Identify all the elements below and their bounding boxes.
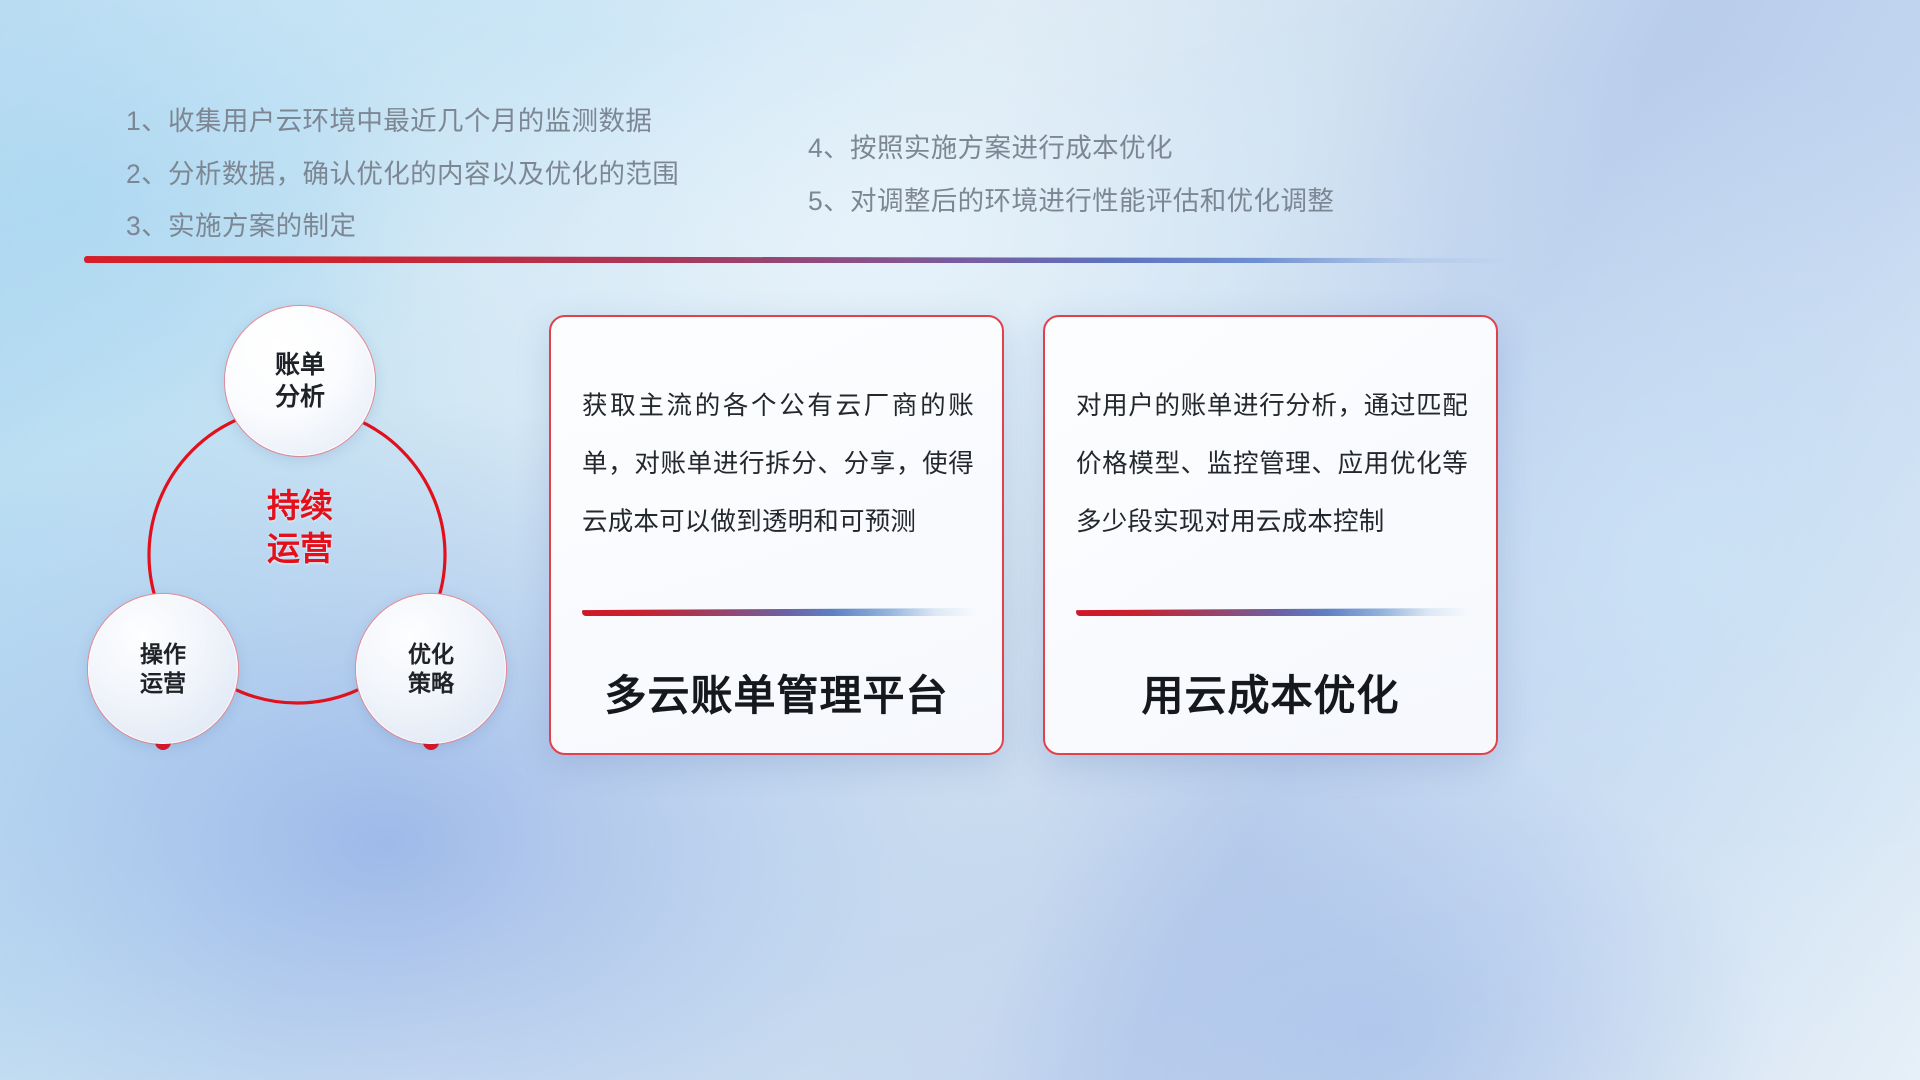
step-number-3: 3、 (126, 211, 168, 241)
step-text-5: 对调整后的环境进行性能评估和优化调整 (850, 186, 1334, 216)
venn-bubble-bill-line1: 账单 (275, 349, 325, 381)
steps-list: 1、收集用户云环境中最近几个月的监测数据 2、分析数据，确认优化的内容以及优化的… (0, 0, 1920, 250)
info-card-1-body: 获取主流的各个公有云厂商的账单，对账单进行拆分、分享，使得云成本可以做到透明和可… (582, 377, 974, 551)
step-text-1: 收集用户云环境中最近几个月的监测数据 (168, 106, 652, 136)
step-text-3: 实施方案的制定 (168, 211, 356, 241)
info-card-1-divider (582, 608, 975, 616)
step-text-2: 分析数据，确认优化的内容以及优化的范围 (168, 159, 679, 189)
info-card-cost-optimization[interactable]: 对用户的账单进行分析，通过匹配价格模型、监控管理、应用优化等多少段实现对用云成本… (1043, 315, 1498, 755)
venn-bubble-bill-line2: 分析 (275, 381, 325, 413)
info-card-1-title: 多云账单管理平台 (551, 662, 1002, 723)
step-number-4: 4、 (808, 133, 850, 163)
step-number-5: 5、 (808, 186, 850, 216)
venn-bubble-opt: 优化 策略 (356, 594, 506, 744)
step-text-4: 按照实施方案进行成本优化 (850, 133, 1173, 163)
step-item-1: 1、收集用户云环境中最近几个月的监测数据 (126, 99, 652, 138)
step-number-2: 2、 (126, 159, 168, 189)
step-item-5: 5、对调整后的环境进行性能评估和优化调整 (808, 179, 1334, 218)
info-card-billing-platform[interactable]: 获取主流的各个公有云厂商的账单，对账单进行拆分、分享，使得云成本可以做到透明和可… (549, 315, 1004, 755)
venn-center-line2: 运营 (238, 528, 362, 571)
venn-bubble-opt-line1: 优化 (408, 640, 454, 669)
venn-center-line1: 持续 (238, 485, 362, 528)
info-card-2-body: 对用户的账单进行分析，通过匹配价格模型、监控管理、应用优化等多少段实现对用云成本… (1076, 377, 1468, 551)
info-card-2-title: 用云成本优化 (1045, 662, 1496, 723)
step-number-1: 1、 (126, 106, 168, 136)
venn-diagram: 账单 分析 操作 运营 优化 策略 持续 运营 (60, 280, 550, 780)
venn-bubble-bill: 账单 分析 (225, 306, 375, 456)
venn-center-label: 持续 运营 (238, 485, 362, 571)
step-item-3: 3、实施方案的制定 (126, 204, 356, 243)
venn-bubble-ops-line1: 操作 (140, 640, 186, 669)
step-item-2: 2、分析数据，确认优化的内容以及优化的范围 (126, 152, 679, 191)
venn-bubble-opt-line2: 策略 (408, 669, 454, 698)
venn-bubble-ops: 操作 运营 (88, 594, 238, 744)
venn-bubble-ops-line2: 运营 (140, 669, 186, 698)
step-item-4: 4、按照实施方案进行成本优化 (808, 126, 1173, 165)
info-card-2-divider (1076, 608, 1469, 616)
